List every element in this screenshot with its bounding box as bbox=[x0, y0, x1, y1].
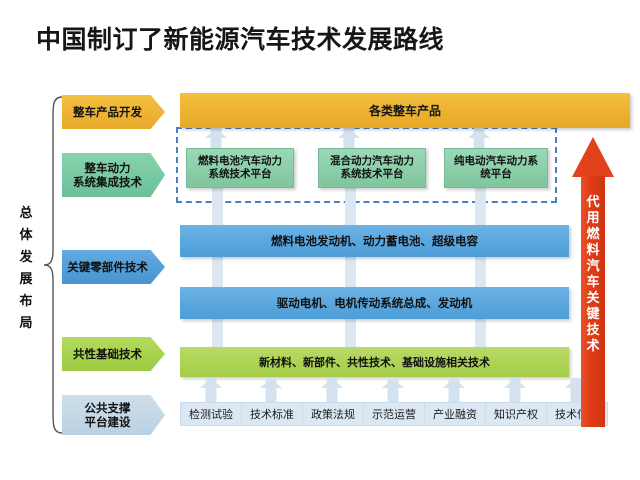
platform-label-line2: 系统技术平台 bbox=[198, 168, 282, 181]
connector-stripe bbox=[475, 257, 486, 287]
caption-char: 局 bbox=[14, 313, 38, 335]
alternative-fuel-arrow[interactable]: 代 用 燃 料 汽 车 关 键 技 术 bbox=[572, 137, 614, 427]
alternative-fuel-arrow-label: 代 用 燃 料 汽 车 关 键 技 术 bbox=[584, 195, 602, 355]
support-item-policy[interactable]: 政策法规 bbox=[302, 402, 364, 426]
arrow-label-char: 汽 bbox=[584, 259, 602, 275]
connector-stripe bbox=[212, 188, 223, 225]
connector-stripe bbox=[345, 188, 356, 225]
up-arrow-icon bbox=[504, 378, 526, 402]
support-item-label: 示范运营 bbox=[372, 406, 416, 422]
arrow-label-char: 术 bbox=[584, 339, 602, 355]
arrow-label-char: 用 bbox=[584, 211, 602, 227]
level-label-text: 关键零部件技术 bbox=[67, 260, 148, 274]
level-label-public-support-platform[interactable]: 公共支撑 平台建设 bbox=[62, 395, 165, 435]
curly-brace-icon bbox=[42, 95, 64, 435]
support-item-inspection[interactable]: 检测试验 bbox=[180, 402, 242, 426]
arrow-label-char: 键 bbox=[584, 307, 602, 323]
key-component-label: 燃料电池发动机、动力蓄电池、超级电容 bbox=[271, 233, 478, 249]
up-arrow-icon bbox=[468, 128, 490, 148]
up-arrow-icon bbox=[260, 378, 282, 402]
connector-stripe bbox=[345, 257, 356, 287]
key-component-bar-2[interactable]: 驱动电机、电机传动系统总成、发动机 bbox=[180, 287, 569, 319]
connector-stripe bbox=[475, 188, 486, 225]
caption-char: 布 bbox=[14, 291, 38, 313]
support-item-financing[interactable]: 产业融资 bbox=[424, 402, 486, 426]
arrow-label-char: 燃 bbox=[584, 227, 602, 243]
platform-label-line1: 纯电动汽车动力系 bbox=[454, 155, 538, 168]
up-arrow-icon bbox=[321, 378, 343, 402]
key-component-bar-1[interactable]: 燃料电池发动机、动力蓄电池、超级电容 bbox=[180, 225, 569, 257]
level-label-text: 共性基础技术 bbox=[73, 347, 142, 361]
red-arrow-head-icon bbox=[572, 137, 614, 177]
arrow-label-char: 料 bbox=[584, 243, 602, 259]
page-title: 中国制订了新能源汽车技术发展路线 bbox=[36, 20, 444, 56]
level-label-common-base-tech[interactable]: 共性基础技术 bbox=[62, 337, 165, 371]
up-arrow-icon bbox=[205, 128, 227, 148]
roadmap-diagram: 总 体 发 展 布 局 各类整车产品 燃料电池汽车动力 系统技术平台 bbox=[0, 75, 640, 450]
arrow-label-char: 代 bbox=[584, 195, 602, 211]
caption-char: 体 bbox=[14, 225, 38, 247]
caption-char: 发 bbox=[14, 247, 38, 269]
support-item-label: 技术标准 bbox=[250, 406, 294, 422]
support-item-label: 政策法规 bbox=[311, 406, 355, 422]
level-label-line1: 公共支撑 bbox=[85, 401, 131, 415]
up-arrow-icon bbox=[382, 378, 404, 402]
common-base-tech-label: 新材料、新部件、共性技术、基础设施相关技术 bbox=[259, 354, 490, 370]
up-arrow-icon bbox=[338, 128, 360, 148]
support-item-label: 知识产权 bbox=[494, 406, 538, 422]
level-label-key-components[interactable]: 关键零部件技术 bbox=[62, 250, 165, 284]
level-label-line1: 整车动力 bbox=[73, 161, 142, 175]
platform-label-line2: 系统技术平台 bbox=[330, 168, 414, 181]
level-label-line2: 平台建设 bbox=[85, 415, 131, 429]
platform-label-line1: 混合动力汽车动力 bbox=[330, 155, 414, 168]
connector-stripe bbox=[475, 319, 486, 347]
vehicle-products-label: 各类整车产品 bbox=[369, 102, 441, 119]
caption-char: 展 bbox=[14, 269, 38, 291]
arrow-label-char: 车 bbox=[584, 275, 602, 291]
up-arrow-icon bbox=[200, 378, 222, 402]
support-item-label: 检测试验 bbox=[189, 406, 233, 422]
level-label-text: 整车产品开发 bbox=[73, 105, 142, 119]
caption-char: 总 bbox=[14, 203, 38, 225]
platform-box-battery-electric[interactable]: 纯电动汽车动力系 统平台 bbox=[444, 148, 548, 188]
platform-label-line1: 燃料电池汽车动力 bbox=[198, 155, 282, 168]
support-item-demo-operation[interactable]: 示范运营 bbox=[363, 402, 425, 426]
connector-stripe bbox=[212, 319, 223, 347]
level-label-line2: 系统集成技术 bbox=[73, 175, 142, 189]
connector-stripe bbox=[345, 319, 356, 347]
platform-box-fuel-cell[interactable]: 燃料电池汽车动力 系统技术平台 bbox=[186, 148, 294, 188]
platform-label-line2: 统平台 bbox=[454, 168, 538, 181]
key-component-label: 驱动电机、电机传动系统总成、发动机 bbox=[277, 295, 473, 311]
level-label-vehicle-product-development[interactable]: 整车产品开发 bbox=[62, 95, 165, 129]
level-label-powertrain-integration[interactable]: 整车动力 系统集成技术 bbox=[62, 153, 165, 197]
overall-layout-caption: 总 体 发 展 布 局 bbox=[14, 203, 38, 335]
connector-stripe bbox=[212, 257, 223, 287]
arrow-label-char: 关 bbox=[584, 291, 602, 307]
common-base-tech-bar[interactable]: 新材料、新部件、共性技术、基础设施相关技术 bbox=[180, 347, 569, 377]
support-item-ip[interactable]: 知识产权 bbox=[485, 402, 547, 426]
support-item-label: 产业融资 bbox=[433, 406, 477, 422]
vehicle-products-bar[interactable]: 各类整车产品 bbox=[180, 93, 630, 128]
arrow-label-char: 技 bbox=[584, 323, 602, 339]
platform-box-hybrid[interactable]: 混合动力汽车动力 系统技术平台 bbox=[318, 148, 426, 188]
support-item-standards[interactable]: 技术标准 bbox=[241, 402, 303, 426]
up-arrow-icon bbox=[443, 378, 465, 402]
